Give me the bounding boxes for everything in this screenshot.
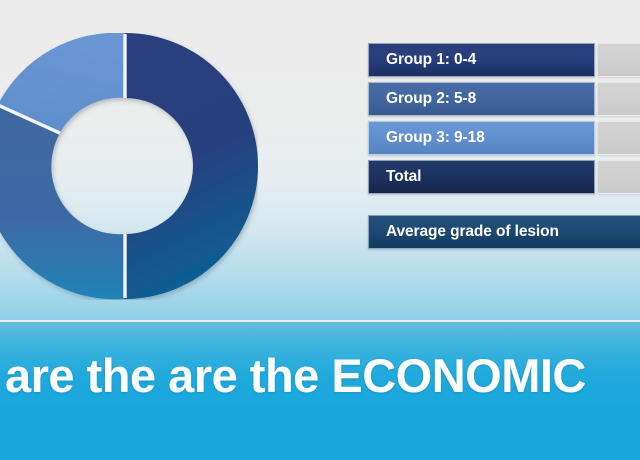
results-table: Group 1: 0-4 Group 2: 5-8 Group 3: 9-18 … (368, 43, 640, 199)
table-row-value (598, 160, 640, 194)
table-row[interactable]: Group 3: 9-18 (368, 121, 640, 155)
average-grade-row[interactable]: Average grade of lesion (368, 215, 640, 249)
table-row-value (598, 121, 640, 155)
table-row-value (598, 43, 640, 77)
donut-segments (0, 33, 258, 299)
table-row[interactable]: Group 2: 5-8 (368, 82, 640, 116)
table-row-value (598, 82, 640, 116)
average-grade-label: Average grade of lesion (368, 215, 640, 249)
headline-banner: are the are the ECONOMIC (0, 322, 640, 460)
table-row-label: Group 3: 9-18 (368, 121, 595, 155)
donut-segment-group-2 (0, 105, 125, 300)
donut-chart (0, 33, 258, 300)
donut-segment-group-1 (125, 33, 258, 299)
table-row[interactable]: Group 1: 0-4 (368, 43, 640, 77)
slide-canvas: Group 1: 0-4 Group 2: 5-8 Group 3: 9-18 … (0, 0, 640, 460)
table-row-label: Total (368, 160, 595, 194)
donut-chart-svg (0, 33, 258, 300)
table-row-label: Group 2: 5-8 (368, 82, 595, 116)
table-row-label: Group 1: 0-4 (368, 43, 595, 77)
table-row[interactable]: Total (368, 160, 640, 194)
headline-text: are the are the ECONOMIC (5, 352, 586, 399)
